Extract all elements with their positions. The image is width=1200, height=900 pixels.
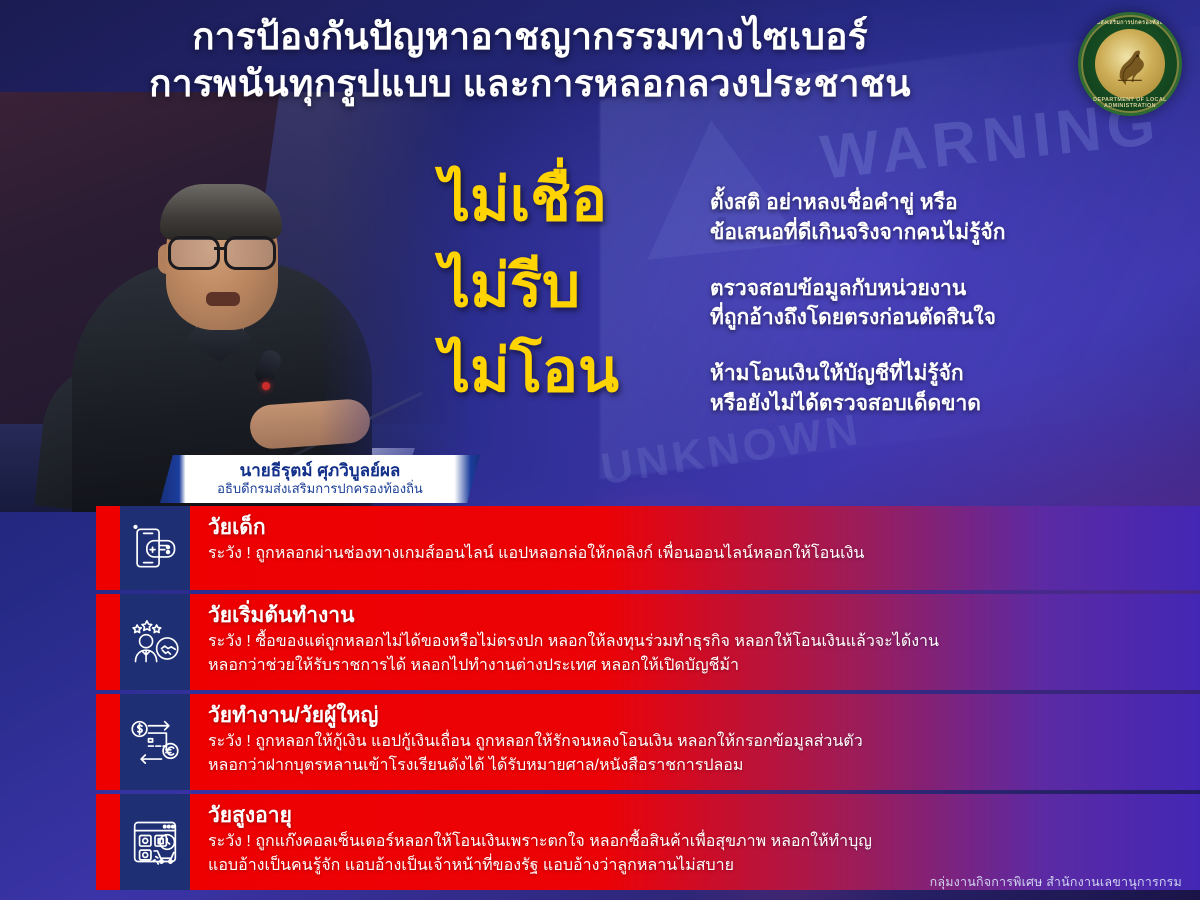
photo-mouth bbox=[206, 292, 240, 306]
key-message-block: ไม่เชื่อ ตั้งสติ อย่าหลงเชื่อคำขู่ หรือ … bbox=[440, 168, 1180, 425]
age-group-title: วัยเด็ก bbox=[208, 515, 1200, 540]
key-message-line-2: ข้อเสนอที่ดีเกินจริงจากคนไม่รู้จัก bbox=[710, 218, 1180, 248]
key-message-item: ไม่รีบ ตรวจสอบข้อมูลกับหน่วยงาน ที่ถูกอ้… bbox=[440, 254, 1180, 334]
businessman-stars-handshake-icon bbox=[120, 594, 190, 690]
photo-hands bbox=[249, 398, 372, 450]
age-group-description: ระวัง ! ถูกหลอกให้กู้เงิน แอปกู้เงินเถื่… bbox=[208, 730, 1200, 777]
seal-top-text: กรมส่งเสริมการปกครองท้องถิ่น bbox=[1078, 19, 1182, 27]
title-line-2: การพนันทุกรูปแบบ และการหลอกลวงประชาชน bbox=[0, 61, 1060, 108]
money-transfer-dollar-euro-icon bbox=[120, 694, 190, 790]
row-content: วัยเริ่มต้นทำงาน ระวัง ! ซื้อของแต่ถูกหล… bbox=[190, 594, 1200, 690]
speaker-name: นายธีรุตม์ ศุภวิบูลย์ผล bbox=[240, 461, 401, 481]
age-desc-line-1: ระวัง ! ซื้อของแต่ถูกหลอกไม่ได้ของหรือไม… bbox=[208, 630, 1200, 653]
speaker-role: อธิบดีกรมส่งเสริมการปกครองท้องถิ่น bbox=[217, 481, 423, 497]
lion-singha-icon bbox=[1103, 39, 1157, 93]
row-content: วัยเด็ก ระวัง ! ถูกหลอกผ่านช่องทางเกมส์อ… bbox=[190, 506, 1200, 590]
age-group-row: วัยเด็ก ระวัง ! ถูกหลอกผ่านช่องทางเกมส์อ… bbox=[0, 506, 1200, 590]
age-group-title: วัยเริ่มต้นทำงาน bbox=[208, 603, 1200, 628]
key-message-headline: ไม่โอน bbox=[440, 339, 710, 404]
row-red-edge bbox=[96, 594, 120, 690]
key-message-line-1: ตรวจสอบข้อมูลกับหน่วยงาน bbox=[710, 277, 966, 300]
footer-credit: กลุ่มงานกิจการพิเศษ สำนักงานเลขานุการกรม bbox=[930, 872, 1182, 892]
row-red-edge bbox=[96, 794, 120, 890]
microphone-indicator-light bbox=[262, 382, 270, 390]
row-red-edge bbox=[96, 694, 120, 790]
age-group-description: ระวัง ! ซื้อของแต่ถูกหลอกไม่ได้ของหรือไม… bbox=[208, 630, 1200, 677]
age-desc-line-1: ระวัง ! ถูกหลอกให้กู้เงิน แอปกู้เงินเถื่… bbox=[208, 730, 1200, 753]
age-group-row: วัยทำงาน/วัยผู้ใหญ่ ระวัง ! ถูกหลอกให้กู… bbox=[0, 694, 1200, 790]
age-group-list: วัยเด็ก ระวัง ! ถูกหลอกผ่านช่องทางเกมส์อ… bbox=[0, 506, 1200, 894]
row-content: วัยทำงาน/วัยผู้ใหญ่ ระวัง ! ถูกหลอกให้กู… bbox=[190, 694, 1200, 790]
department-seal-logo: กรมส่งเสริมการปกครองท้องถิ่น DEPARTMENT … bbox=[1078, 12, 1182, 116]
age-group-title: วัยสูงอายุ bbox=[208, 803, 1200, 828]
key-message-item: ไม่เชื่อ ตั้งสติ อย่าหลงเชื่อคำขู่ หรือ … bbox=[440, 168, 1180, 248]
age-desc-line-1: ระวัง ! ถูกหลอกผ่านช่องทางเกมส์ออนไลน์ แ… bbox=[208, 542, 1200, 565]
key-message-description: ห้ามโอนเงินให้บัญชีที่ไม่รู้จัก หรือยังไ… bbox=[710, 339, 1180, 419]
age-group-description: ระวัง ! ถูกแก๊งคอลเซ็นเตอร์หลอกให้โอนเงิ… bbox=[208, 830, 1200, 877]
speaker-photo bbox=[0, 92, 470, 512]
key-message-line-1: ห้ามโอนเงินให้บัญชีที่ไม่รู้จัก bbox=[710, 362, 964, 385]
age-desc-line-2: หลอกว่าช่วยให้รับราชการได้ หลอกไปทำงานต่… bbox=[208, 654, 1200, 677]
glasses-icon bbox=[166, 236, 282, 266]
key-message-line-2: ที่ถูกอ้างถึงโดยตรงก่อนตัดสินใจ bbox=[710, 303, 1180, 333]
speaker-nameplate: นายธีรุตม์ ศุภวิบูลย์ผล อธิบดีกรมส่งเสริ… bbox=[160, 455, 480, 503]
key-message-headline: ไม่รีบ bbox=[440, 254, 710, 319]
age-group-title: วัยทำงาน/วัยผู้ใหญ่ bbox=[208, 703, 1200, 728]
row-red-edge bbox=[96, 506, 120, 590]
key-message-description: ตรวจสอบข้อมูลกับหน่วยงาน ที่ถูกอ้างถึงโด… bbox=[710, 254, 1180, 334]
age-group-description: ระวัง ! ถูกหลอกผ่านช่องทางเกมส์ออนไลน์ แ… bbox=[208, 542, 1200, 565]
online-shopping-browser-cart-icon bbox=[120, 794, 190, 890]
page-title: การป้องกันปัญหาอาชญากรรมทางไซเบอร์ การพน… bbox=[0, 14, 1060, 107]
seal-bottom-text: DEPARTMENT OF LOCAL ADMINISTRATION bbox=[1078, 97, 1182, 109]
photo-hair bbox=[160, 184, 282, 240]
age-group-row: วัยเริ่มต้นทำงาน ระวัง ! ซื้อของแต่ถูกหล… bbox=[0, 594, 1200, 690]
key-message-line-2: หรือยังไม่ได้ตรวจสอบเด็ดขาด bbox=[710, 389, 1180, 419]
key-message-item: ไม่โอน ห้ามโอนเงินให้บัญชีที่ไม่รู้จัก ห… bbox=[440, 339, 1180, 419]
key-message-description: ตั้งสติ อย่าหลงเชื่อคำขู่ หรือ ข้อเสนอที… bbox=[710, 168, 1180, 248]
title-line-1: การป้องกันปัญหาอาชญากรรมทางไซเบอร์ bbox=[0, 14, 1060, 61]
key-message-headline: ไม่เชื่อ bbox=[440, 168, 710, 233]
phone-game-controller-icon bbox=[120, 506, 190, 590]
infographic-poster: WARNING UNKNOWN การป้องกันปัญหาอาชญากรรม… bbox=[0, 0, 1200, 900]
age-desc-line-2: หลอกว่าฝากบุตรหลานเข้าโรงเรียนดังได้ ได้… bbox=[208, 754, 1200, 777]
age-desc-line-1: ระวัง ! ถูกแก๊งคอลเซ็นเตอร์หลอกให้โอนเงิ… bbox=[208, 830, 1200, 853]
key-message-line-1: ตั้งสติ อย่าหลงเชื่อคำขู่ หรือ bbox=[710, 191, 958, 214]
